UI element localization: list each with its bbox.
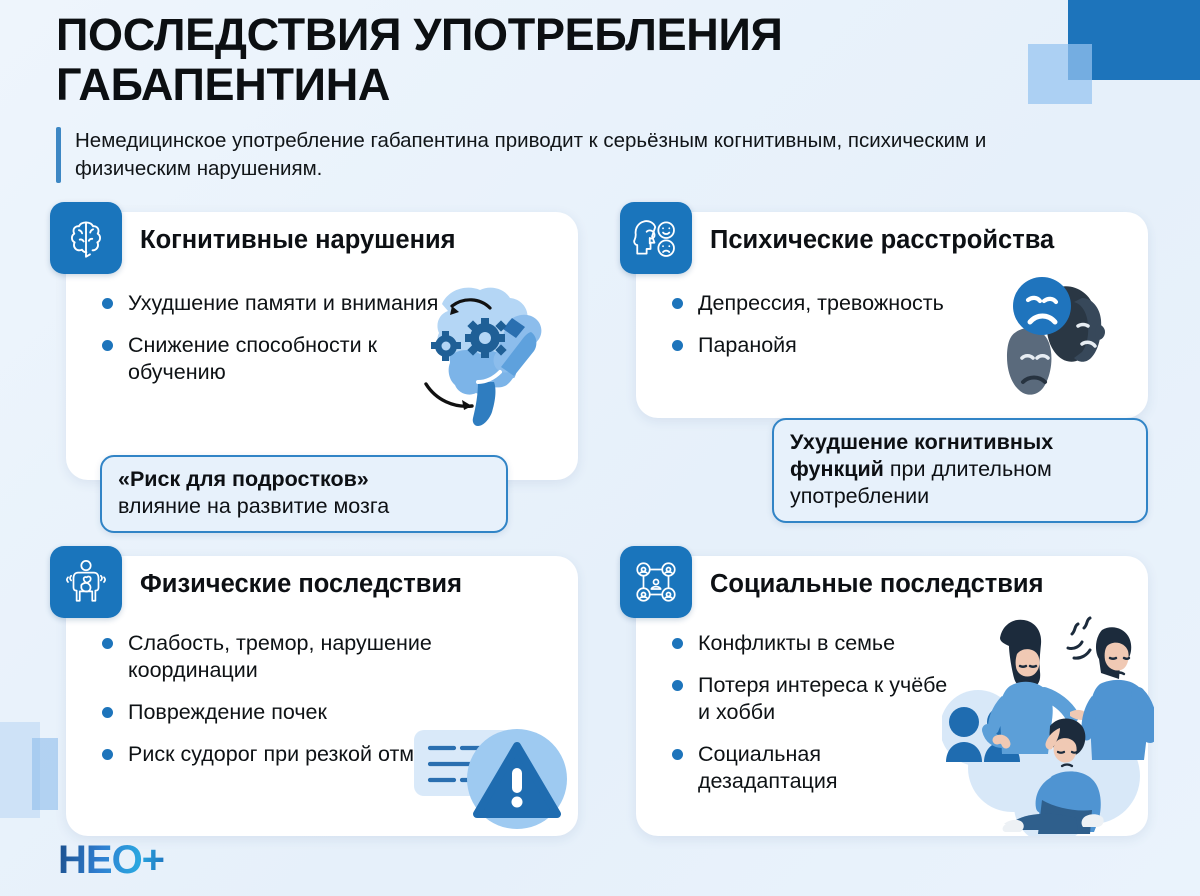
list-item: Риск судорог при резкой отмене: [100, 741, 458, 768]
callout-bold-text: «Риск для подростков»: [118, 467, 369, 491]
bullet-list: Конфликты в семье Потеря интереса к учёб…: [670, 630, 958, 810]
subtitle-text: Немедицинское употребление габапентина п…: [75, 127, 1025, 183]
list-item: Снижение способности к обучению: [100, 332, 458, 386]
family-conflict-illustration: [942, 600, 1154, 836]
decorative-square-bottom-b: [32, 738, 58, 810]
page-title: ПОСЛЕДСТВИЯ УПОТРЕБЛЕНИЯ ГАБАПЕНТИНА: [56, 10, 1056, 110]
list-item: Социальная дезадаптация: [670, 741, 958, 795]
people-network-icon: [620, 546, 692, 618]
head-with-emotions-icon: [620, 202, 692, 274]
card-physical-consequences: Физические последствия Слабость, тремор,…: [66, 556, 578, 836]
card-social-consequences: Социальные последствия Конфликты в семье…: [636, 556, 1148, 836]
card-title: Физические последствия: [140, 570, 562, 599]
brand-logo: НЕО+: [58, 840, 164, 880]
bullet-list: Слабость, тремор, нарушение координации …: [100, 630, 458, 783]
list-item: Конфликты в семье: [670, 630, 958, 657]
card-title: Социальные последствия: [710, 570, 1132, 599]
card-title: Психические расстройства: [710, 226, 1132, 255]
list-item: Повреждение почек: [100, 699, 458, 726]
callout-longterm-cognitive: Ухудшение когнитивных функций при длител…: [772, 418, 1148, 523]
infographic-canvas: ПОСЛЕДСТВИЯ УПОТРЕБЛЕНИЯ ГАБАПЕНТИНА Нем…: [0, 0, 1200, 896]
bullet-list: Депрессия, тревожность Паранойя: [670, 290, 1018, 374]
card-title: Когнитивные нарушения: [140, 226, 562, 255]
list-item: Ухудшение памяти и внимания: [100, 290, 458, 317]
body-anatomy-icon: [50, 546, 122, 618]
card-cognitive-impairment: Когнитивные нарушения Ухудшение памяти и…: [66, 212, 578, 480]
list-item: Потеря интереса к учёбе и хобби: [670, 672, 958, 726]
callout-rest-text: влияние на развитие мозга: [118, 494, 389, 518]
card-mental-disorders: Психические расстройства Депрессия, трев…: [636, 212, 1148, 418]
list-item: Слабость, тремор, нарушение координации: [100, 630, 458, 684]
brain-icon: [50, 202, 122, 274]
bullet-list: Ухудшение памяти и внимания Снижение спо…: [100, 290, 458, 401]
callout-teen-risk: «Риск для подростков» влияние на развити…: [100, 455, 508, 533]
list-item: Паранойя: [670, 332, 1018, 359]
list-item: Депрессия, тревожность: [670, 290, 1018, 317]
header: ПОСЛЕДСТВИЯ УПОТРЕБЛЕНИЯ ГАБАПЕНТИНА Нем…: [56, 10, 1056, 183]
subtitle-accent-bar: [56, 127, 61, 183]
subtitle-block: Немедицинское употребление габапентина п…: [56, 127, 1056, 183]
